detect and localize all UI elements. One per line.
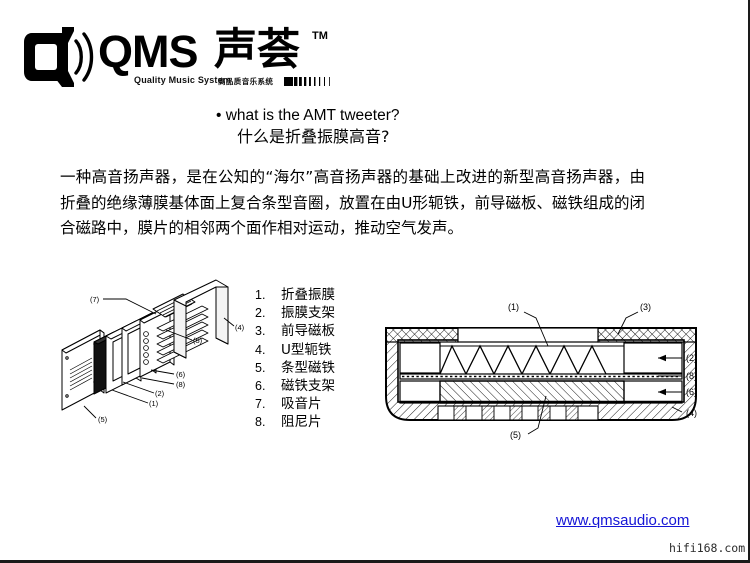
callout-8: (8) <box>686 371 697 381</box>
logo-tagline-cn: 高品质音乐系统 <box>218 76 273 87</box>
callout-4: (4) <box>686 408 697 418</box>
slide-heading: • what is the AMT tweeter? 什么是折叠振膜高音? <box>216 106 616 148</box>
part-number: 2. <box>255 306 281 320</box>
callout-1: (1) <box>149 399 159 408</box>
section-gap-left <box>400 343 440 373</box>
list-item: 6. 磁铁支架 <box>255 374 380 392</box>
list-item: 4. U型轭铁 <box>255 338 380 356</box>
list-item: 8. 阻尼片 <box>255 410 380 428</box>
list-item: 2. 振膜支架 <box>255 301 380 319</box>
cross-section-diagram: (1) (3) (2) (8) (6) (4) (5) <box>376 296 706 444</box>
callout-2: (2) <box>686 353 697 363</box>
callout-4: (4) <box>235 323 245 332</box>
part-label: 磁铁支架 <box>281 374 335 394</box>
speaker-q-icon <box>22 25 96 89</box>
section-bottom-magnet-row <box>438 406 598 420</box>
exploded-view-diagram: (7) (4) (5) (6) (8) (2) (1) (5) <box>56 278 252 446</box>
section-top-plate-right <box>598 328 696 342</box>
website-link[interactable]: www.qmsaudio.com <box>556 510 716 532</box>
list-item: 1. 折叠振膜 <box>255 283 380 301</box>
section-bar-magnet-block <box>440 381 624 403</box>
body-paragraph: 一种高音扬声器，是在公知的“海尔”高音扬声器的基础上改进的新型高音扬声器，由折叠… <box>60 165 645 242</box>
callout-5: (5) <box>510 430 521 440</box>
part-number: 5. <box>255 361 281 375</box>
part-label: 前导磁板 <box>281 319 335 339</box>
callout-6: (6) <box>176 370 186 379</box>
part-label: 阻尼片 <box>281 410 322 430</box>
callout-1: (1) <box>508 302 519 312</box>
list-item: 3. 前导磁板 <box>255 319 380 337</box>
section-top-plate-left <box>386 328 458 342</box>
section-damping-sheet <box>400 374 682 379</box>
callout-8: (8) <box>176 380 186 389</box>
logo-wordmark: QMS <box>98 28 198 76</box>
watermark-text: hifi168.com <box>669 541 745 555</box>
part-label: 条型磁铁 <box>281 356 335 376</box>
brand-logo: QMS 声荟 TM Quality Music System 高品质音乐系统 <box>22 22 332 92</box>
part-number: 4. <box>255 343 281 357</box>
callout-2: (2) <box>155 389 165 398</box>
part-number: 1. <box>255 288 281 302</box>
callout-5-top: (5) <box>193 336 203 345</box>
part-label: 折叠振膜 <box>281 283 335 303</box>
trademark-symbol: TM <box>312 30 328 42</box>
callout-7: (7) <box>90 295 100 304</box>
callout-6: (6) <box>686 387 697 397</box>
part-number: 6. <box>255 379 281 393</box>
gradient-bars-icon <box>284 77 334 86</box>
section-top-gap <box>458 328 598 342</box>
logo-tagline-en: Quality Music System <box>134 75 231 85</box>
callout-3: (3) <box>640 302 651 312</box>
list-item: 7. 吸音片 <box>255 392 380 410</box>
part-number: 8. <box>255 415 281 429</box>
part-number: 7. <box>255 397 281 411</box>
callout-5-bottom: (5) <box>98 415 108 424</box>
heading-line-english: • what is the AMT tweeter? <box>216 106 616 126</box>
slide-canvas: QMS 声荟 TM Quality Music System 高品质音乐系统 •… <box>0 0 750 563</box>
list-item: 5. 条型磁铁 <box>255 356 380 374</box>
logo-cjk-name: 声荟 <box>214 25 300 75</box>
heading-line-chinese: 什么是折叠振膜高音? <box>237 126 616 148</box>
part-label: U型轭铁 <box>281 338 331 358</box>
parts-list: 1. 折叠振膜 2. 振膜支架 3. 前导磁板 4. U型轭铁 5. 条型磁铁 … <box>255 283 380 429</box>
part-label: 吸音片 <box>281 392 322 412</box>
part-label: 振膜支架 <box>281 301 335 321</box>
part-number: 3. <box>255 324 281 338</box>
